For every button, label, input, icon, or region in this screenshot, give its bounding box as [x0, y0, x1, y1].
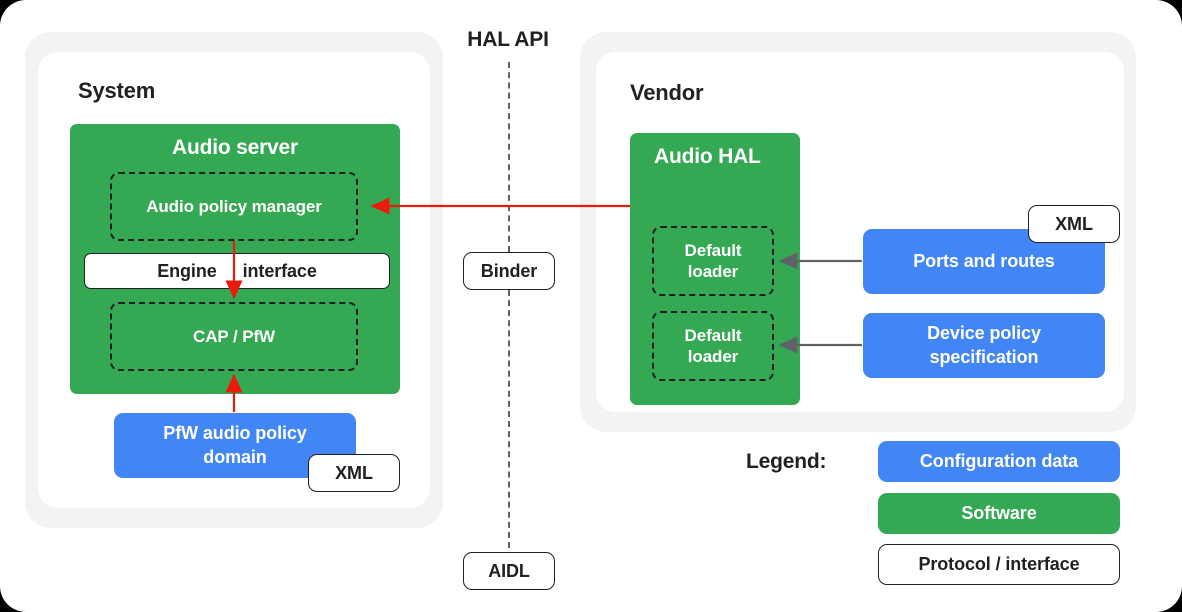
hal-api-title: HAL API	[428, 28, 588, 52]
default-loader-1-line1: Default	[685, 240, 742, 261]
legend-label: Legend:	[746, 450, 826, 474]
device-policy-specification-line2: specification	[927, 346, 1041, 369]
vendor-xml-badge: XML	[1028, 205, 1120, 243]
legend-item-protocol-interface: Protocol / interface	[878, 544, 1120, 585]
legend-item-software: Software	[878, 493, 1120, 534]
binder-badge: Binder	[463, 252, 555, 290]
engine-interface-pill: Engine interface	[84, 253, 390, 289]
vendor-title: Vendor	[630, 80, 703, 106]
default-loader-2-line2: loader	[685, 346, 742, 367]
pfw-audio-policy-domain-line2: domain	[163, 446, 306, 469]
hal-divider-line-upper	[508, 62, 510, 252]
diagram-canvas: System Audio server Audio policy manager…	[0, 0, 1182, 612]
aidl-badge: AIDL	[463, 552, 555, 590]
default-loader-block-1: Default loader	[652, 226, 774, 296]
default-loader-2-line1: Default	[685, 325, 742, 346]
cap-pfw-block: CAP / PfW	[110, 302, 358, 371]
audio-server-title: Audio server	[70, 136, 400, 160]
default-loader-block-2: Default loader	[652, 311, 774, 381]
system-xml-badge: XML	[308, 454, 400, 492]
pfw-audio-policy-domain-line1: PfW audio policy	[163, 422, 306, 445]
engine-interface-left-label: Engine	[157, 261, 216, 282]
audio-hal-title: Audio HAL	[654, 145, 761, 169]
hal-divider-line-lower	[508, 290, 510, 548]
default-loader-1-line2: loader	[685, 261, 742, 282]
audio-policy-manager-block: Audio policy manager	[110, 172, 358, 241]
legend-item-configuration-data: Configuration data	[878, 441, 1120, 482]
device-policy-specification-block: Device policy specification	[863, 313, 1105, 378]
device-policy-specification-line1: Device policy	[927, 322, 1041, 345]
system-title: System	[78, 78, 155, 104]
engine-interface-right-label: interface	[243, 261, 317, 282]
